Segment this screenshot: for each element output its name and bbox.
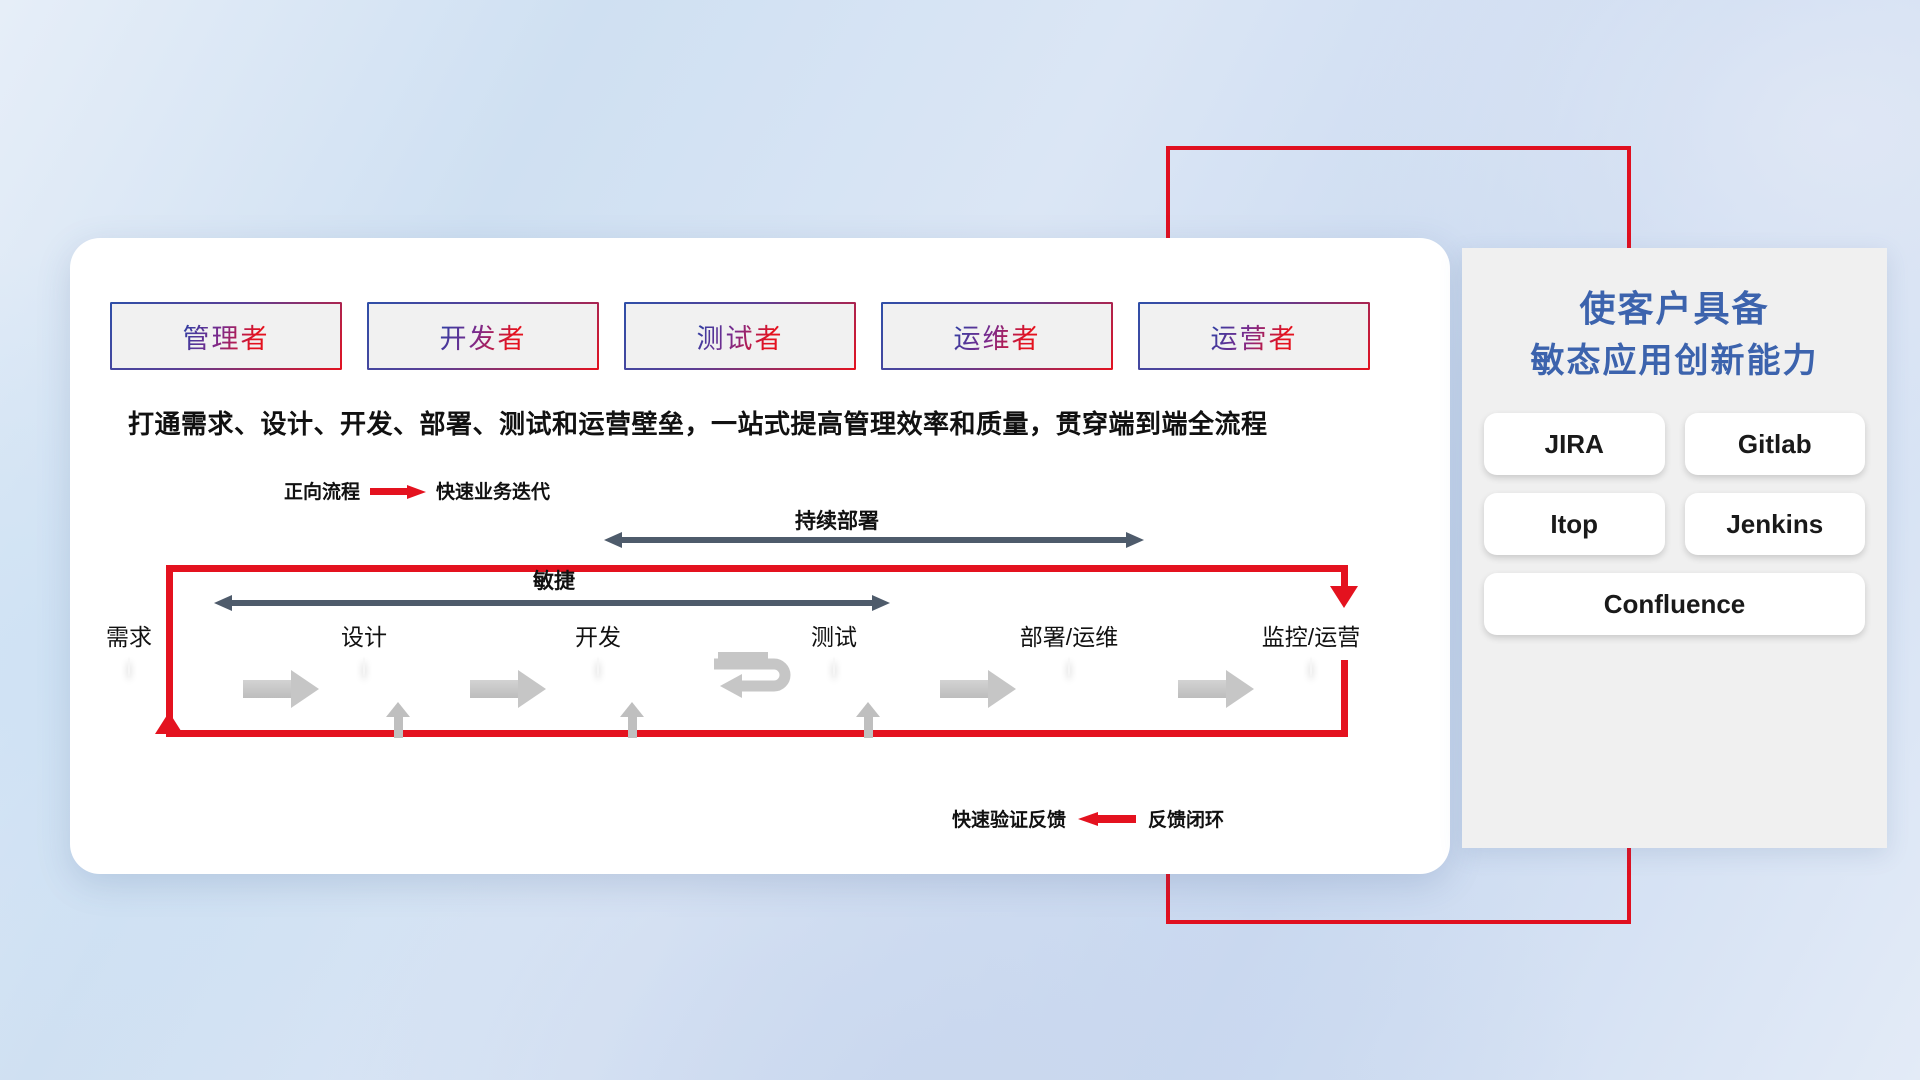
rework-loop-arrow-icon: [712, 652, 806, 704]
stage-label: 开发: [575, 618, 621, 652]
flow-arrow-3-icon: [940, 670, 1016, 708]
pipeline-stage-testing[interactable]: 测试: [833, 658, 835, 676]
flow-arrow-4-icon: [1178, 670, 1254, 708]
role-box-ops[interactable]: 运维者: [881, 302, 1113, 370]
role-label: 测试者: [697, 317, 784, 356]
description-text: 打通需求、设计、开发、部署、测试和运营壁垒，一站式提高管理效率和质量，贯穿端到端…: [128, 404, 1428, 441]
role-label: 运营者: [1211, 317, 1298, 356]
pipeline-stage-development[interactable]: 开发: [597, 658, 599, 676]
bracket-top-line: [1166, 146, 1631, 150]
stage-dot: [1310, 657, 1312, 676]
tool-itop[interactable]: Itop: [1484, 493, 1665, 555]
role-box-developer[interactable]: 开发者: [367, 302, 599, 370]
feedback-tick-design: [394, 716, 403, 738]
flow-arrow-1-icon: [243, 670, 319, 708]
continuous-deployment-arrow-icon: [604, 532, 1144, 548]
tool-list: JIRA Gitlab Itop Jenkins Confluence: [1484, 413, 1865, 635]
stage-dot: [363, 657, 365, 676]
stage-dot: [128, 657, 130, 676]
feedback-source-label: 反馈闭环: [1148, 805, 1224, 832]
forward-flow-target-label: 快速业务迭代: [436, 477, 550, 504]
loop-right-down-line: [1341, 660, 1348, 737]
panel-title: 使客户具备 敏态应用创新能力: [1462, 282, 1887, 387]
panel-title-line2: 敏态应用创新能力: [1462, 336, 1887, 387]
role-box-manager[interactable]: 管理者: [110, 302, 342, 370]
tool-confluence[interactable]: Confluence: [1484, 573, 1865, 635]
stage-dot: [597, 657, 599, 676]
stage-label: 部署/运维: [1020, 618, 1118, 652]
forward-flow-source-label: 正向流程: [284, 477, 360, 504]
tool-jenkins[interactable]: Jenkins: [1685, 493, 1866, 555]
stage-label: 测试: [811, 618, 857, 652]
tool-jira[interactable]: JIRA: [1484, 413, 1665, 475]
loop-top-line: [166, 565, 1348, 572]
bracket-bottom-line: [1166, 920, 1631, 924]
stage-dot: [1068, 657, 1070, 676]
role-label: 管理者: [183, 317, 270, 356]
loop-arrow-down-icon: [1330, 586, 1358, 608]
pipeline-stage-design[interactable]: 设计: [363, 658, 365, 676]
agile-label: 敏捷: [533, 565, 575, 595]
feedback-tick-development: [628, 716, 637, 738]
panel-title-line1: 使客户具备: [1462, 282, 1887, 336]
continuous-deployment-label: 持续部署: [795, 505, 879, 535]
role-label: 开发者: [440, 317, 527, 356]
stage-label: 设计: [341, 618, 387, 652]
loop-arrow-up-icon: [155, 712, 183, 734]
tool-gitlab[interactable]: Gitlab: [1685, 413, 1866, 475]
pipeline-stage-monitor-operations[interactable]: 监控/运营: [1310, 658, 1312, 676]
pipeline-stage-requirements[interactable]: 需求: [128, 658, 130, 676]
stage-label: 需求: [106, 618, 152, 652]
agile-arrow-icon: [214, 595, 890, 611]
feedback-loop-legend: 快速验证反馈 反馈闭环: [952, 805, 1224, 832]
feedback-target-label: 快速验证反馈: [952, 805, 1066, 832]
value-panel: 使客户具备 敏态应用创新能力 JIRA Gitlab Itop Jenkins …: [1462, 248, 1887, 848]
loop-bottom-line: [166, 730, 1348, 737]
arrow-left-red-icon: [1078, 812, 1136, 826]
stage-dot: [833, 657, 835, 676]
flow-arrow-2-icon: [470, 670, 546, 708]
role-label: 运维者: [954, 317, 1041, 356]
role-box-tester[interactable]: 测试者: [624, 302, 856, 370]
arrow-right-red-icon: [370, 485, 426, 497]
pipeline-stage-deploy-ops[interactable]: 部署/运维: [1068, 658, 1070, 676]
slide-canvas: 管理者 开发者 测试者 运维者 运营者 打通需求、设计、开发、部署、测试和运营壁…: [0, 0, 1920, 1080]
stage-label: 监控/运营: [1262, 618, 1360, 652]
role-box-row: 管理者 开发者 测试者 运维者 运营者: [110, 302, 1370, 370]
role-box-operations[interactable]: 运营者: [1138, 302, 1370, 370]
forward-flow-legend: 正向流程 快速业务迭代: [284, 477, 550, 504]
feedback-tick-testing: [864, 716, 873, 738]
